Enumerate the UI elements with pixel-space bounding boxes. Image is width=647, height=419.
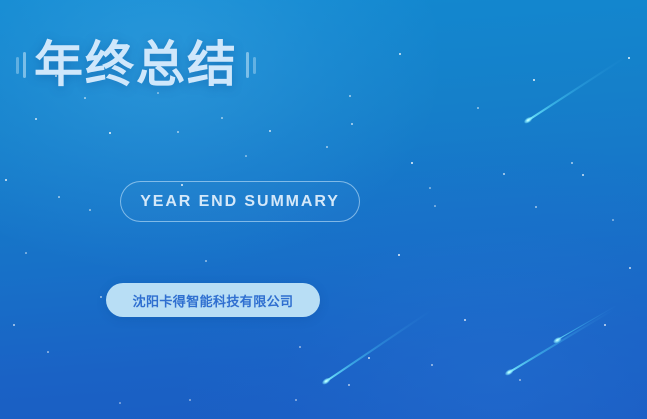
star-icon [13,324,15,326]
star-icon [100,296,102,298]
star-icon [119,402,121,404]
tick-mark-icon [16,57,19,74]
presentation-cover-slide: 年终总结 YEAR END SUMMARY 沈阳卡得智能科技有限公司 [0,0,647,419]
star-icon [84,97,86,99]
meteor-icon [526,56,626,122]
star-icon [629,267,631,269]
title-left-tick-decoration [16,50,26,80]
star-icon [503,173,505,175]
year-end-summary-label: YEAR END SUMMARY [140,193,340,211]
star-icon [533,79,535,81]
star-icon [299,346,301,348]
star-icon [269,130,271,132]
star-icon [399,53,401,55]
star-icon [431,364,433,366]
star-icon [221,117,223,119]
star-icon [429,187,431,189]
meteor-icon [507,308,615,374]
meteor-icon [556,305,617,341]
page-title: 年终总结 [34,41,238,90]
star-icon [245,155,247,157]
star-icon [571,162,573,164]
tick-mark-icon [23,52,26,78]
star-icon [326,146,328,148]
meteor-icon [324,310,431,383]
star-icon [47,351,49,353]
company-name-label: 沈阳卡得智能科技有限公司 [133,291,294,310]
star-icon [351,123,353,125]
star-icon [295,399,297,401]
star-icon [109,132,111,134]
star-icon [5,179,7,181]
tick-mark-icon [246,52,249,78]
star-icon [464,319,466,321]
company-name-pill: 沈阳卡得智能科技有限公司 [106,283,320,317]
star-icon [434,205,436,207]
star-icon [628,57,630,59]
star-icon [612,219,614,221]
tick-mark-icon [253,57,256,74]
star-icon [535,206,537,208]
title-row: 年终总结 [16,36,256,94]
star-icon [35,118,37,120]
star-icon [411,162,413,164]
star-icon [205,260,207,262]
star-icon [582,174,584,176]
star-icon [25,252,27,254]
star-icon [58,196,60,198]
star-icon [89,209,91,211]
star-icon [177,131,179,133]
star-icon [349,95,351,97]
star-icon [398,254,400,256]
star-icon [348,384,350,386]
year-end-summary-pill: YEAR END SUMMARY [120,181,360,222]
star-icon [604,324,606,326]
star-icon [477,107,479,109]
star-icon [519,379,521,381]
star-icon [368,357,370,359]
star-icon [189,399,191,401]
title-right-tick-decoration [246,50,256,80]
